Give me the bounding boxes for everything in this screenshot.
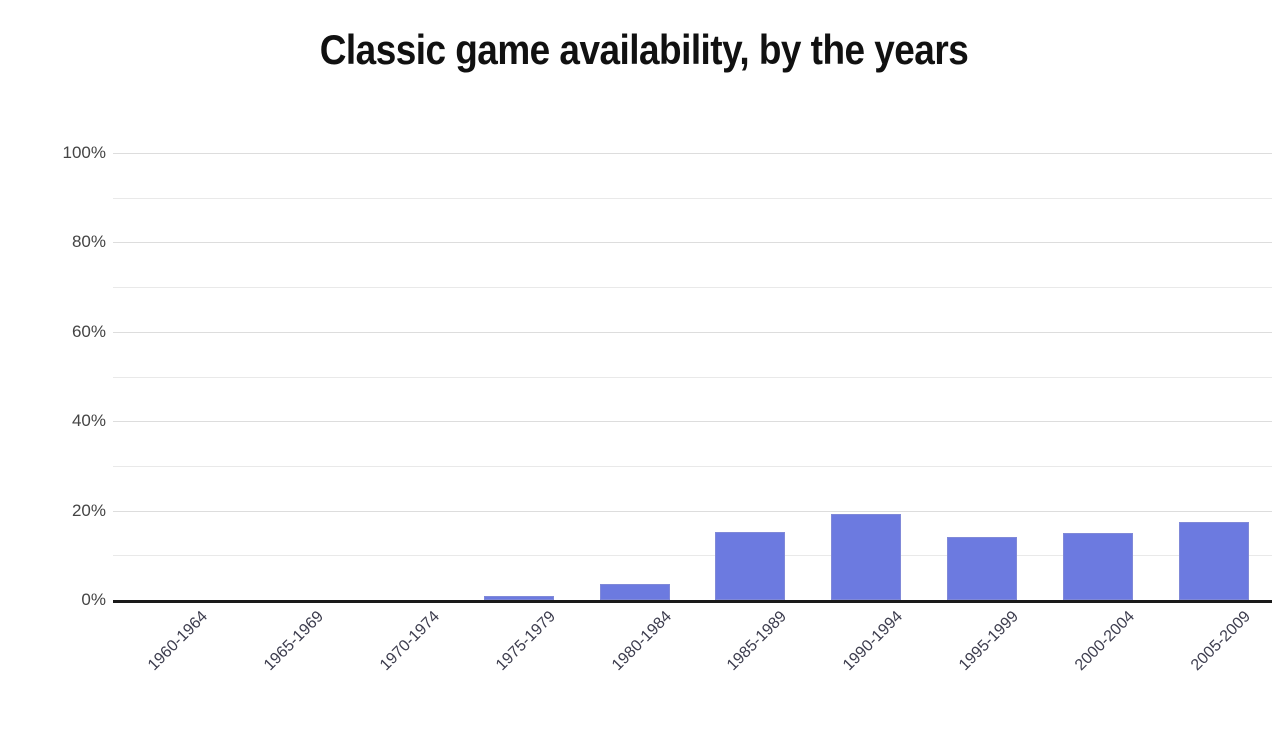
y-axis-tick-label: 0% <box>81 590 106 610</box>
x-axis-tick-label: 2005-2009 <box>1188 608 1255 675</box>
bar[interactable] <box>947 537 1017 600</box>
x-axis-tick-label: 1985-1989 <box>724 608 791 675</box>
gridline-minor <box>113 198 1272 199</box>
x-axis-line <box>113 600 1272 603</box>
y-axis-tick-label: 100% <box>63 143 106 163</box>
y-axis-tick-label: 60% <box>72 322 106 342</box>
y-axis-tick-label: 20% <box>72 501 106 521</box>
bar[interactable] <box>600 584 670 600</box>
gridline-major <box>113 511 1272 512</box>
gridline-minor <box>113 287 1272 288</box>
gridline-major <box>113 242 1272 243</box>
bar[interactable] <box>715 532 785 600</box>
x-axis-tick-label: 1965-1969 <box>261 608 328 675</box>
plot-area <box>113 153 1272 600</box>
bar[interactable] <box>831 514 901 600</box>
x-axis-tick-label: 1970-1974 <box>377 608 444 675</box>
chart-title: Classic game availability, by the years <box>77 26 1210 74</box>
x-axis-tick-label: 1975-1979 <box>493 608 560 675</box>
gridline-major <box>113 332 1272 333</box>
y-axis-tick-label: 80% <box>72 232 106 252</box>
bar[interactable] <box>1063 533 1133 600</box>
x-axis-tick-label: 1995-1999 <box>956 608 1023 675</box>
y-axis-tick-label: 40% <box>72 411 106 431</box>
gridline-minor <box>113 377 1272 378</box>
x-axis-tick-label: 1960-1964 <box>145 608 212 675</box>
bar-chart: Classic game availability, by the years … <box>0 0 1288 754</box>
x-axis-tick-label: 2000-2004 <box>1072 608 1139 675</box>
x-axis-tick-label: 1980-1984 <box>608 608 675 675</box>
gridline-minor <box>113 466 1272 467</box>
gridline-major <box>113 153 1272 154</box>
gridline-major <box>113 421 1272 422</box>
x-axis-tick-label: 1990-1994 <box>840 608 907 675</box>
bar[interactable] <box>1179 522 1249 600</box>
